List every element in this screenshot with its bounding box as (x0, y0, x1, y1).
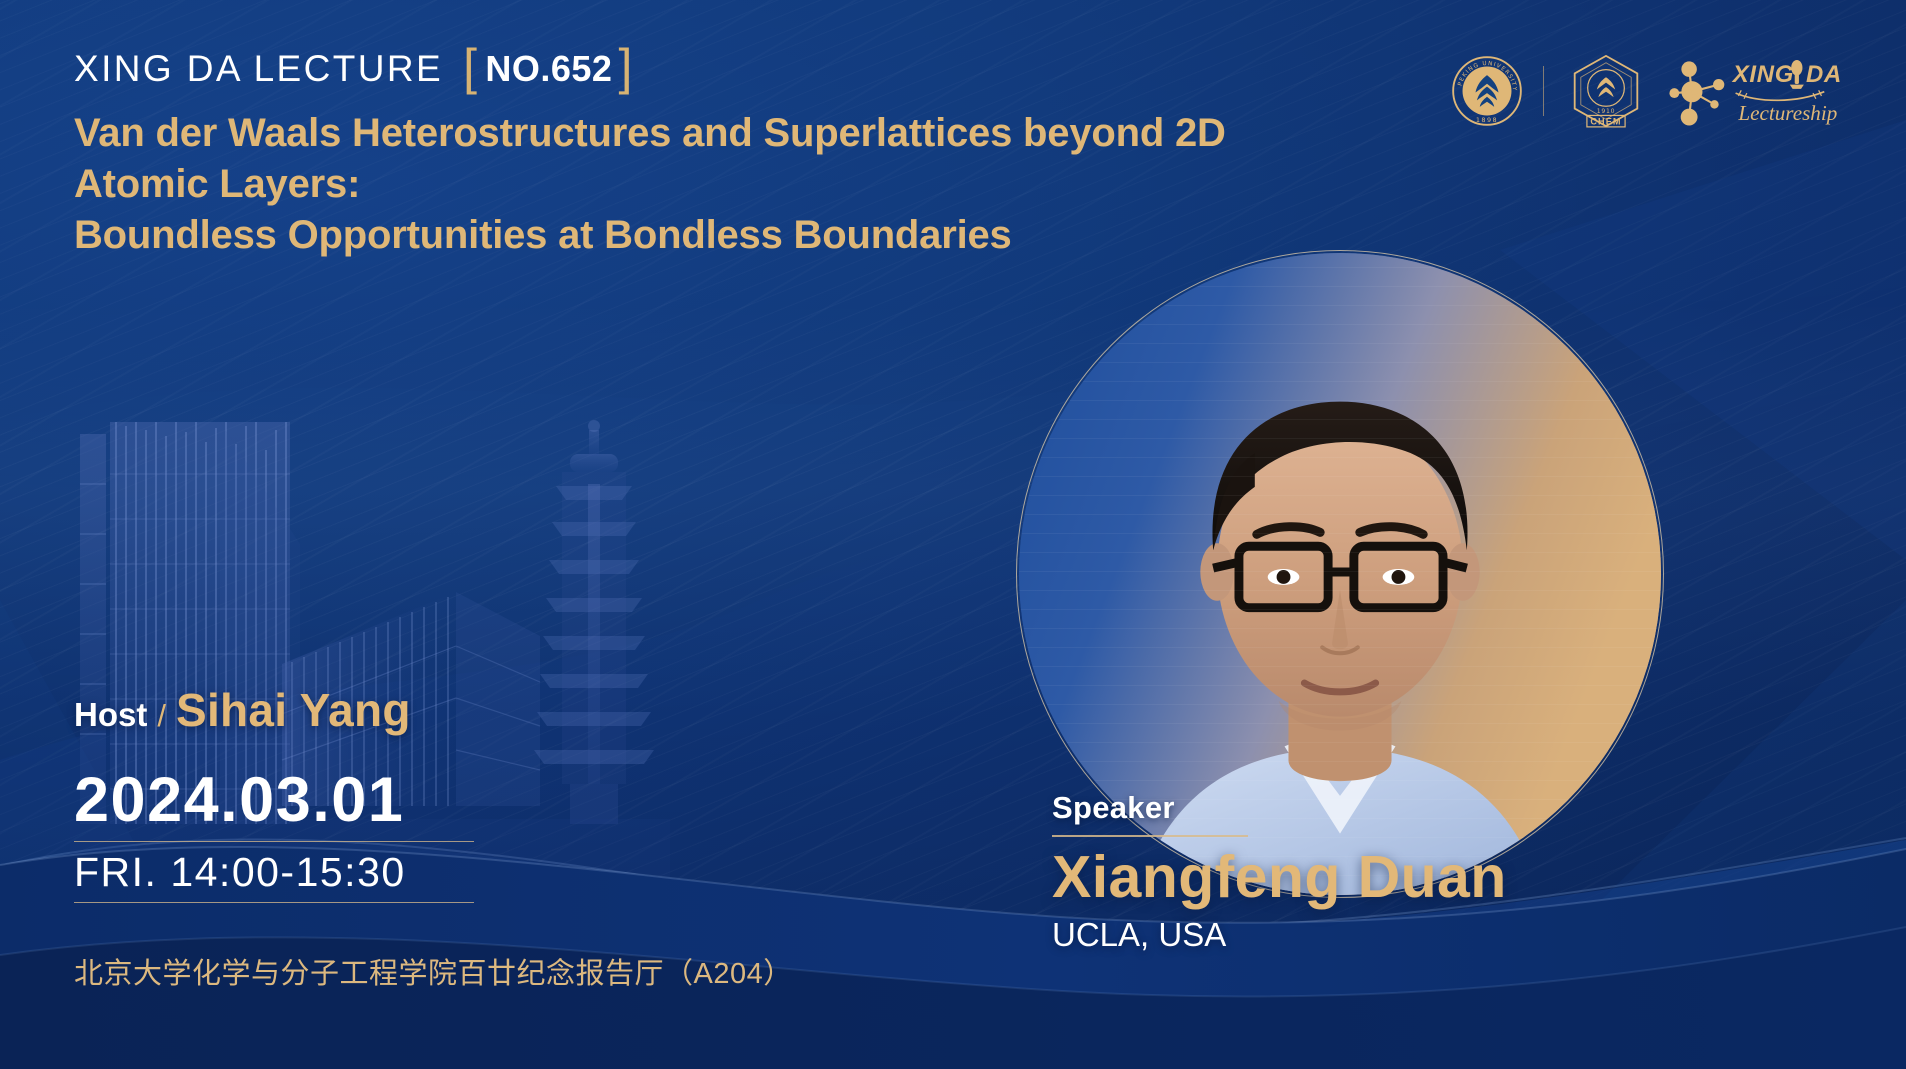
svg-text:XING: XING (1731, 61, 1794, 88)
svg-text:CHEM: CHEM (1590, 117, 1621, 127)
schedule-block: 2024.03.01 FRI. 14:00-15:30 (74, 766, 474, 911)
host-name: Sihai Yang (176, 683, 411, 737)
lecture-number: NO.652 (485, 48, 612, 90)
chem-college-logo-icon: 1910 CHEM (1564, 52, 1648, 130)
xing-da-lectureship-logo-icon: XING DA Lectureship (1668, 52, 1844, 130)
lecture-date: 2024.03.01 (74, 766, 474, 834)
bracket-close: ] (618, 47, 634, 87)
lecture-venue: 北京大学化学与分子工程学院百廿纪念报告厅（A204） (74, 950, 793, 992)
series-name: XING DA LECTURE (74, 48, 443, 90)
svg-text:1898: 1898 (1476, 116, 1498, 124)
lecture-number-block: [ NO.652 ] (457, 48, 641, 90)
speaker-block: Speaker Xiangfeng Duan UCLA, USA (1052, 790, 1507, 954)
peking-university-seal-icon: 1898 PEKING UNIVERSITY (1451, 55, 1523, 127)
svg-text:DA: DA (1806, 61, 1842, 88)
page-title: Van der Waals Heterostructures and Super… (74, 108, 1324, 262)
speaker-name: Xiangfeng Duan (1052, 845, 1507, 910)
lecture-poster: XING DA LECTURE [ NO.652 ] Van der Waals… (0, 0, 1906, 1069)
speaker-affiliation: UCLA, USA (1052, 916, 1507, 954)
host-separator: / (157, 698, 166, 734)
speaker-label: Speaker (1052, 790, 1507, 826)
host-label: Host (74, 696, 147, 734)
host-line: Host / Sihai Yang (74, 683, 411, 737)
pagoda-silhouette (534, 420, 654, 824)
lecture-time: FRI. 14:00-15:30 (74, 850, 474, 895)
title-line-1: Van der Waals Heterostructures and Super… (74, 111, 1226, 206)
svg-text:Lectureship: Lectureship (1737, 101, 1837, 125)
bracket-open: [ (463, 47, 479, 87)
schedule-divider-top (74, 841, 474, 842)
svg-text:1910: 1910 (1597, 108, 1616, 115)
speaker-divider (1052, 835, 1248, 837)
logo-divider (1543, 66, 1544, 116)
logo-row: 1898 PEKING UNIVERSITY 1910 CHEM (1451, 52, 1844, 130)
schedule-divider-bottom (74, 902, 474, 903)
